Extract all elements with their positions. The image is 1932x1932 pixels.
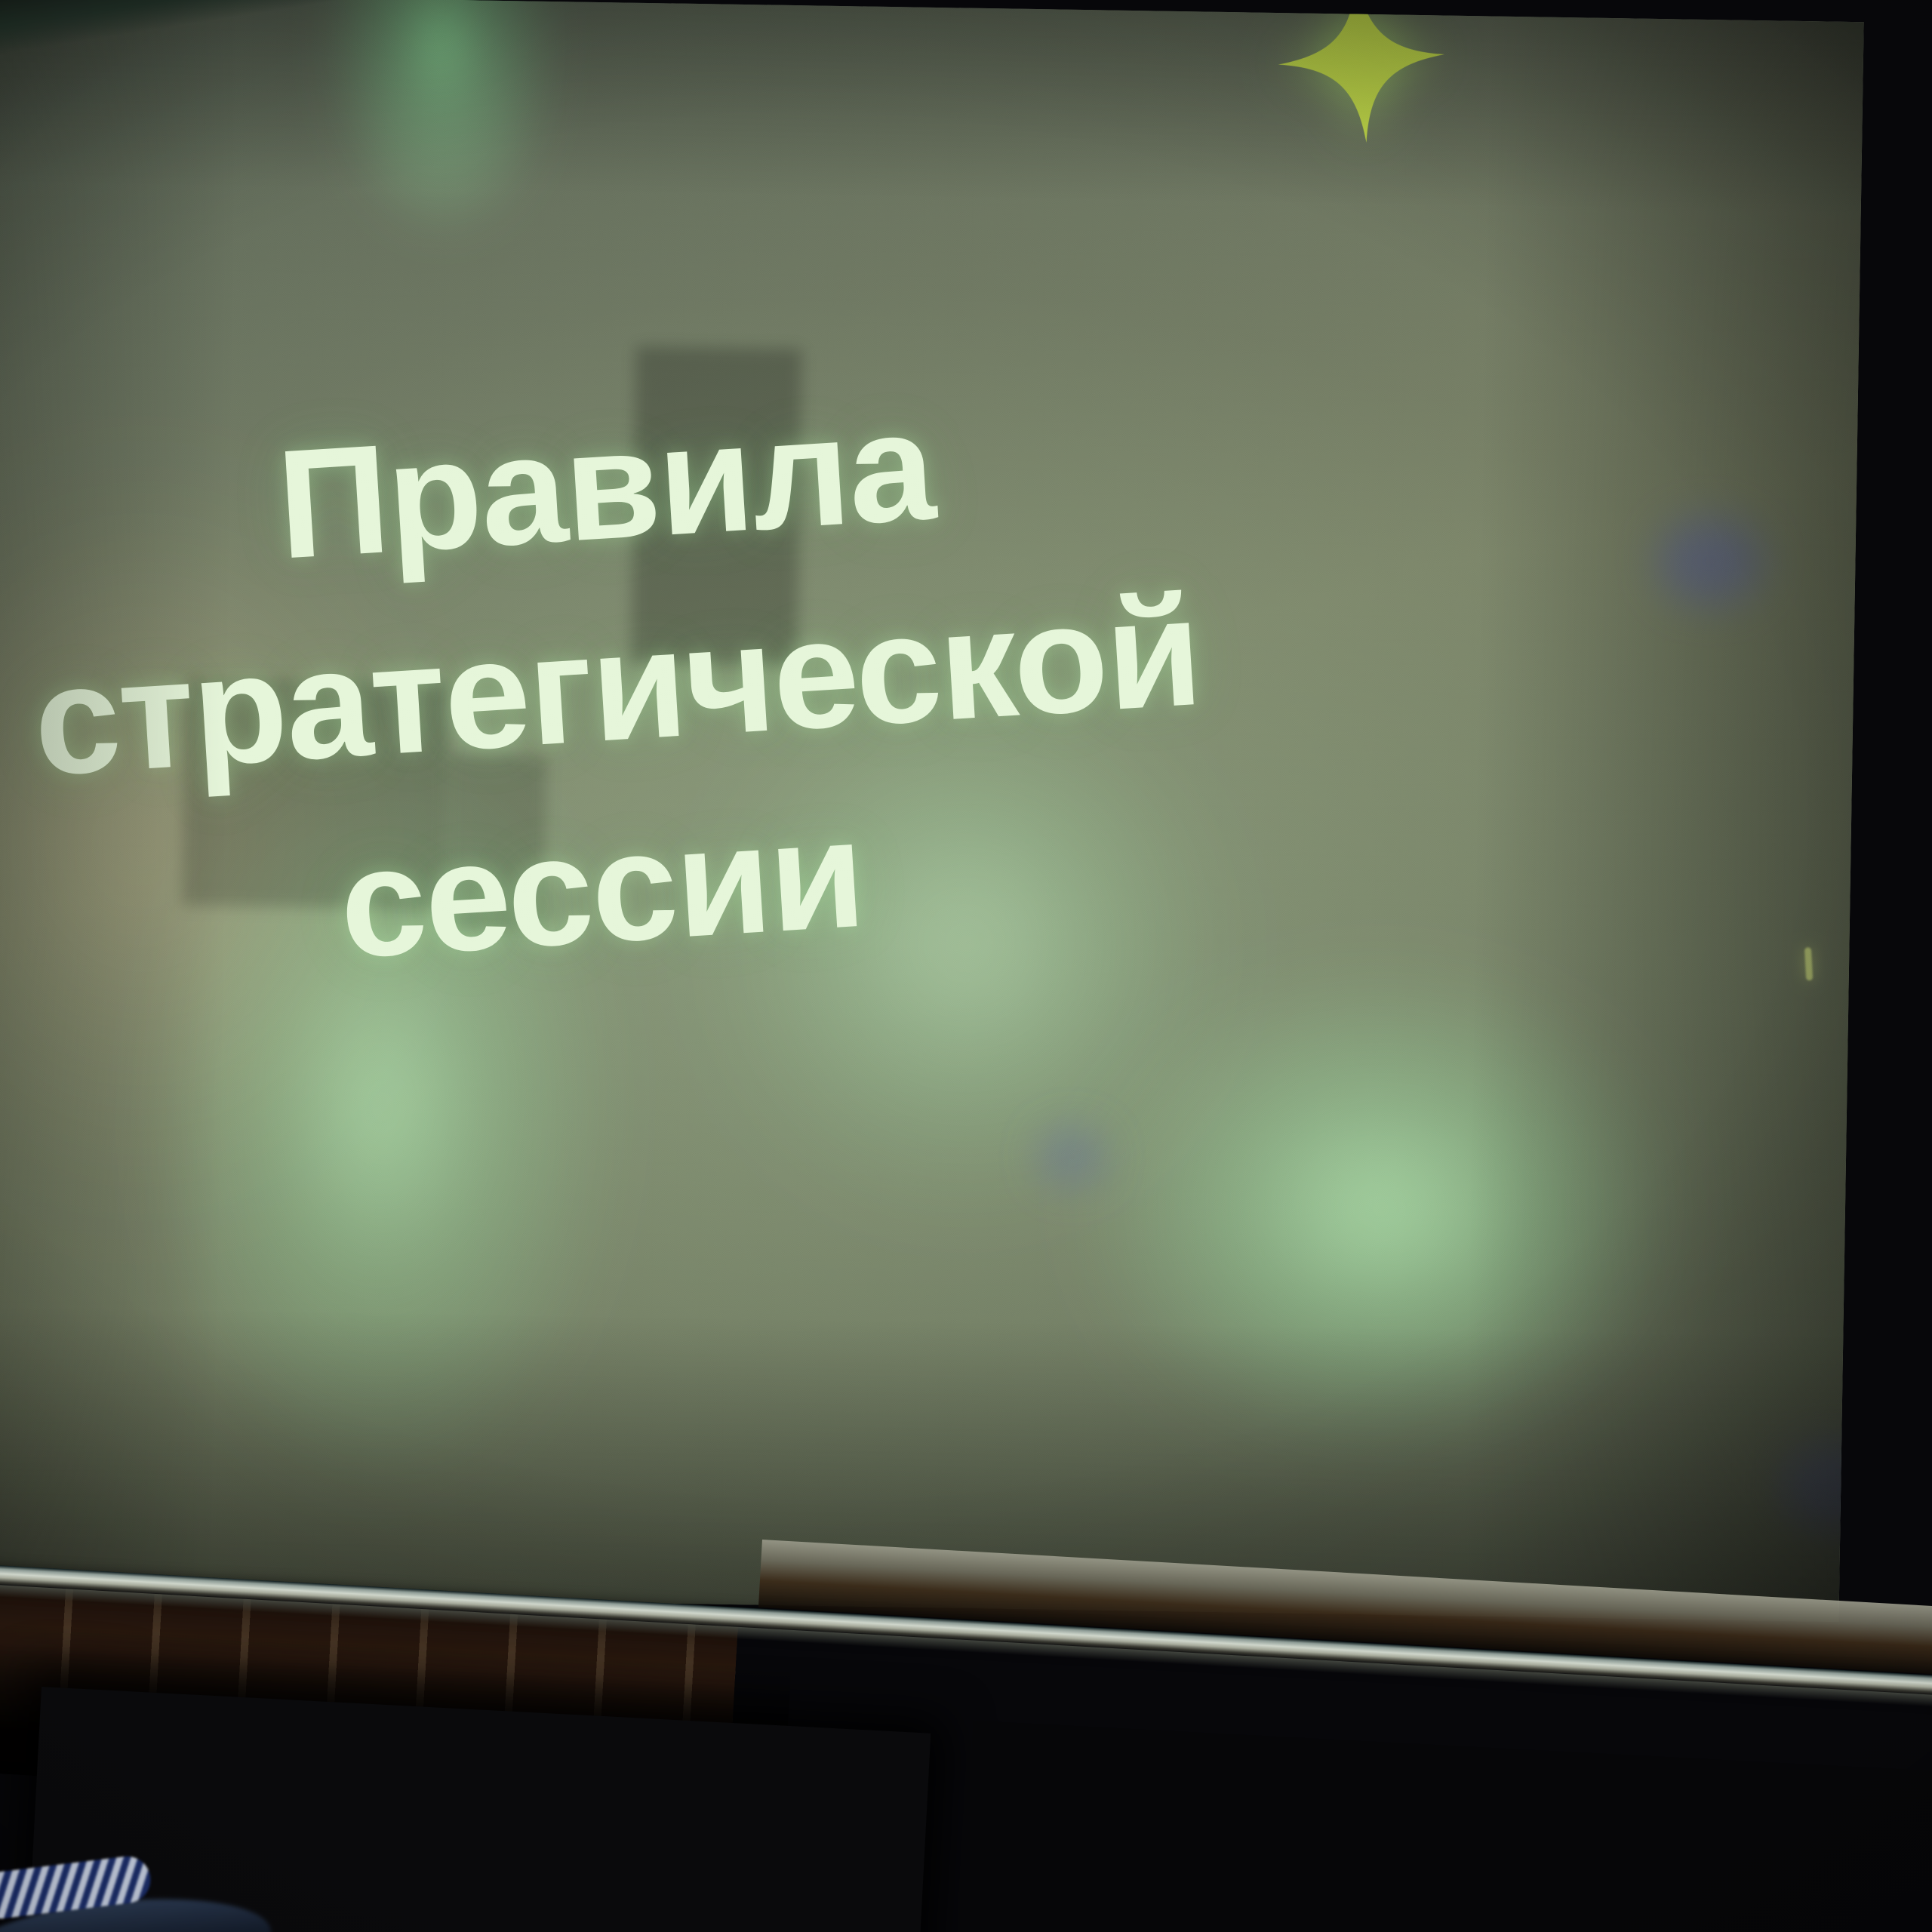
projection-screen: Правила стратегической сессии [0, 0, 1864, 1622]
four-point-sparkle-icon [1269, 0, 1454, 152]
slide-content: Правила стратегической сессии [0, 0, 1864, 1622]
yellow-tick-mark [1804, 947, 1813, 980]
slide-title: Правила стратегической сессии [16, 326, 1604, 1023]
photo-scene: Правила стратегической сессии [0, 0, 1932, 1932]
